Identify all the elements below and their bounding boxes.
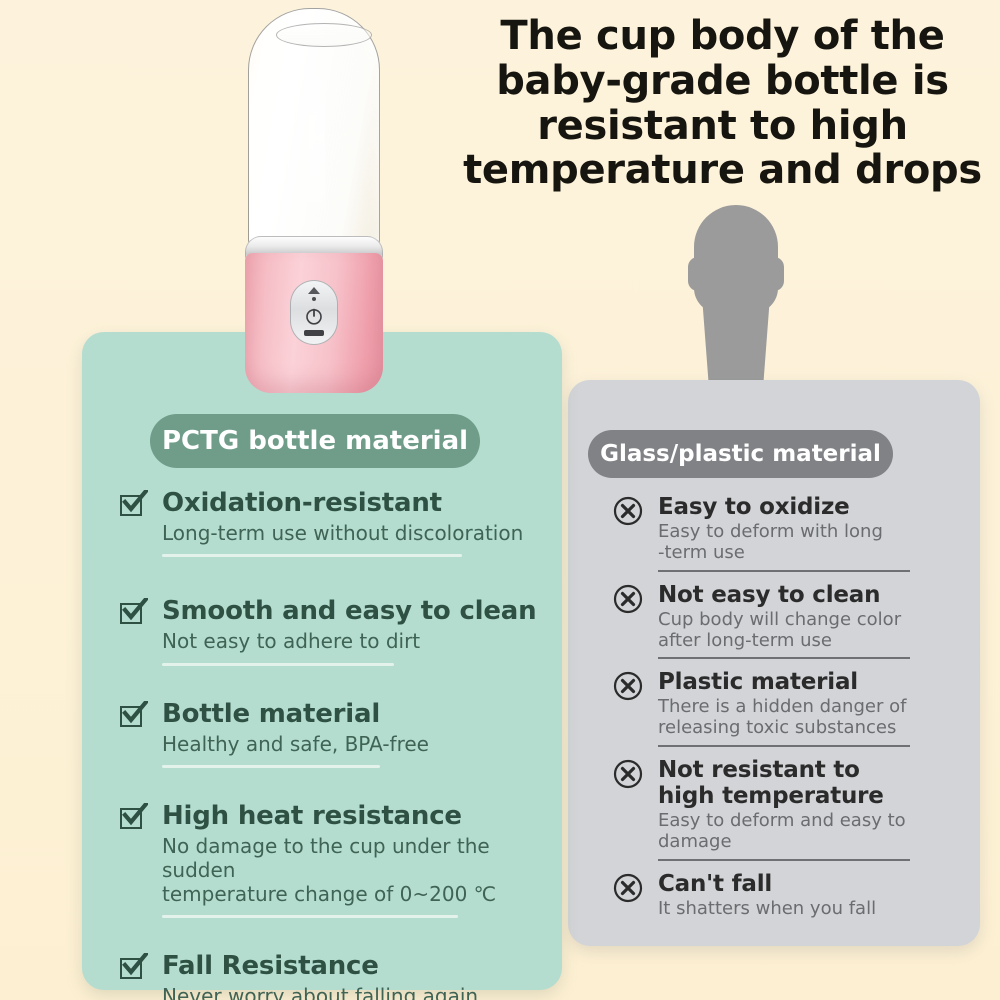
circle-x-icon	[612, 758, 644, 790]
divider	[658, 657, 910, 659]
list-item-subtitle: Long-term use without discoloration	[162, 522, 538, 546]
divider	[658, 859, 910, 861]
list-item-title: Oxidation-resistant	[162, 489, 538, 519]
list-item-subtitle: No damage to the cup under the sudden te…	[162, 835, 538, 906]
list-item-subtitle: Healthy and safe, BPA-free	[162, 733, 538, 757]
green-panel-badge: PCTG bottle material	[150, 414, 480, 468]
list-item-title: Easy to oxidize	[658, 494, 950, 520]
divider	[162, 765, 380, 768]
comparison-panel-glass-plastic: Glass/plastic material Easy to oxidize E…	[568, 380, 980, 946]
list-item-subtitle: There is a hidden danger of releasing to…	[658, 697, 950, 738]
list-item: High heat resistance No damage to the cu…	[120, 802, 538, 906]
list-item-title: Can't fall	[658, 871, 950, 897]
list-item-subtitle: Cup body will change color after long-te…	[658, 610, 950, 651]
list-item-title: Fall Resistance	[162, 952, 538, 982]
list-item: Easy to oxidize Easy to deform with long…	[610, 494, 950, 564]
circle-x-icon	[612, 670, 644, 702]
list-item: Oxidation-resistant Long-term use withou…	[120, 489, 538, 545]
list-item-title: Not resistant to high temperature	[658, 757, 950, 809]
list-item: Plastic material There is a hidden dange…	[610, 669, 950, 739]
gray-panel-badge: Glass/plastic material	[588, 430, 893, 478]
list-item: Can't fall It shatters when you fall	[610, 871, 950, 920]
list-item: Bottle material Healthy and safe, BPA-fr…	[120, 700, 538, 756]
circle-x-icon	[612, 495, 644, 527]
checkbox-checked-icon	[120, 601, 144, 625]
checkbox-checked-icon	[120, 956, 144, 980]
list-item: Smooth and easy to clean Not easy to adh…	[120, 597, 538, 653]
divider	[162, 663, 394, 666]
comparison-panel-pctg: PCTG bottle material Oxidation-resistant…	[82, 332, 562, 990]
infographic-canvas: The cup body of the baby-grade bottle is…	[0, 0, 1000, 1000]
checkbox-checked-icon	[120, 493, 144, 517]
checkbox-checked-icon	[120, 806, 144, 830]
power-icon[interactable]	[303, 305, 325, 327]
divider	[162, 554, 462, 557]
divider	[162, 915, 458, 918]
list-item-title: Not easy to clean	[658, 582, 950, 608]
product-image-portable-blender	[239, 8, 389, 390]
blender-cup	[248, 8, 380, 250]
list-item-subtitle: Easy to deform with long -term use	[658, 522, 950, 563]
list-item-subtitle: It shatters when you fall	[658, 899, 950, 920]
list-item-subtitle: Easy to deform and easy to damage	[658, 811, 950, 852]
list-item: Fall Resistance Never worry about fallin…	[120, 952, 538, 1000]
page-title: The cup body of the baby-grade bottle is…	[455, 14, 990, 193]
divider	[658, 745, 910, 747]
cup-highlight	[309, 49, 325, 229]
list-item: Not resistant to high temperature Easy t…	[610, 757, 950, 853]
list-item-subtitle: Not easy to adhere to dirt	[162, 630, 538, 654]
list-item-subtitle: Never worry about falling again	[162, 985, 538, 1000]
circle-x-icon	[612, 583, 644, 615]
list-item-title: Smooth and easy to clean	[162, 597, 538, 627]
divider	[658, 570, 910, 572]
checkbox-checked-icon	[120, 704, 144, 728]
triangle-indicator-icon	[308, 287, 320, 294]
list-item-title: High heat resistance	[162, 802, 538, 832]
list-item: Not easy to clean Cup body will change c…	[610, 582, 950, 652]
gray-panel-list: Easy to oxidize Easy to deform with long…	[610, 494, 950, 920]
list-item-title: Plastic material	[658, 669, 950, 695]
circle-x-icon	[612, 872, 644, 904]
blender-control-panel[interactable]	[290, 280, 338, 345]
green-panel-list: Oxidation-resistant Long-term use withou…	[120, 489, 538, 1000]
status-dot-icon	[312, 297, 316, 301]
cup-rim	[276, 23, 372, 47]
list-item-title: Bottle material	[162, 700, 538, 730]
indicator-bar-icon	[304, 330, 324, 336]
